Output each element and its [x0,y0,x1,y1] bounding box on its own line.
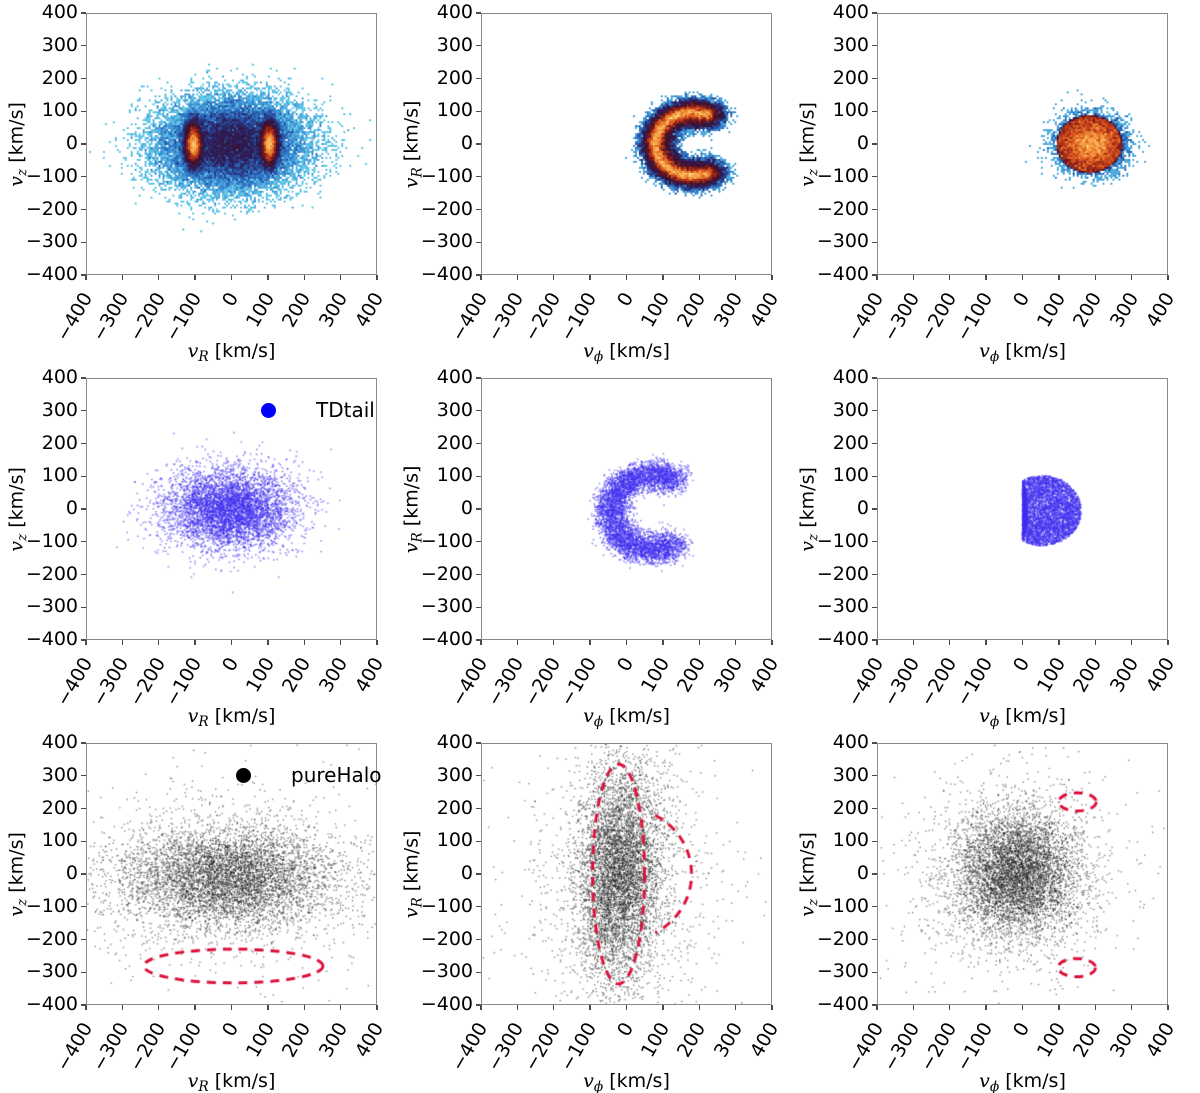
xtick-r3c3-1 [913,1005,914,1010]
ytick-label-r3c3-0: −400 [799,995,869,1014]
xtick-r3c3-8 [1167,1005,1168,1010]
plot-area-r3c3 [878,744,1167,1004]
xtick-r3c3-0 [876,1005,877,1010]
legend-label: TDtail [316,400,375,420]
ytick-label-r3c3-1: −300 [799,962,869,981]
ylabel-r3c3: vz [km/s] [797,794,822,954]
legend-tdtail: TDtail [261,400,375,420]
ytick-r3c3-2 [872,939,877,940]
axes-frame-r3c3 [877,743,1168,1005]
ytick-r3c3-8 [872,742,877,743]
legend-marker-icon [261,403,276,418]
legend-marker-icon [236,768,251,783]
ytick-label-r3c3-7: 300 [799,766,869,785]
legend-purehalo: pureHalo [236,765,382,785]
xtick-r3c3-6 [1095,1005,1096,1010]
panel-r3c3: −400−300−200−1000100200300400−400−300−20… [0,0,1200,1093]
xtick-r3c3-3 [985,1005,986,1010]
ytick-r3c3-1 [872,972,877,973]
ytick-r3c3-6 [872,808,877,809]
xtick-r3c3-4 [1022,1005,1023,1010]
ytick-r3c3-5 [872,841,877,842]
ytick-r3c3-4 [872,873,877,874]
figure-canvas: −400−300−200−1000100200300400−400−300−20… [0,0,1200,1093]
xtick-r3c3-7 [1131,1005,1132,1010]
xtick-r3c3-2 [949,1005,950,1010]
ytick-label-r3c3-8: 400 [799,733,869,752]
legend-label: pureHalo [291,765,382,785]
xlabel-r3c3: vϕ [km/s] [877,1070,1168,1093]
ytick-r3c3-7 [872,775,877,776]
xtick-r3c3-5 [1058,1005,1059,1010]
ytick-r3c3-3 [872,906,877,907]
